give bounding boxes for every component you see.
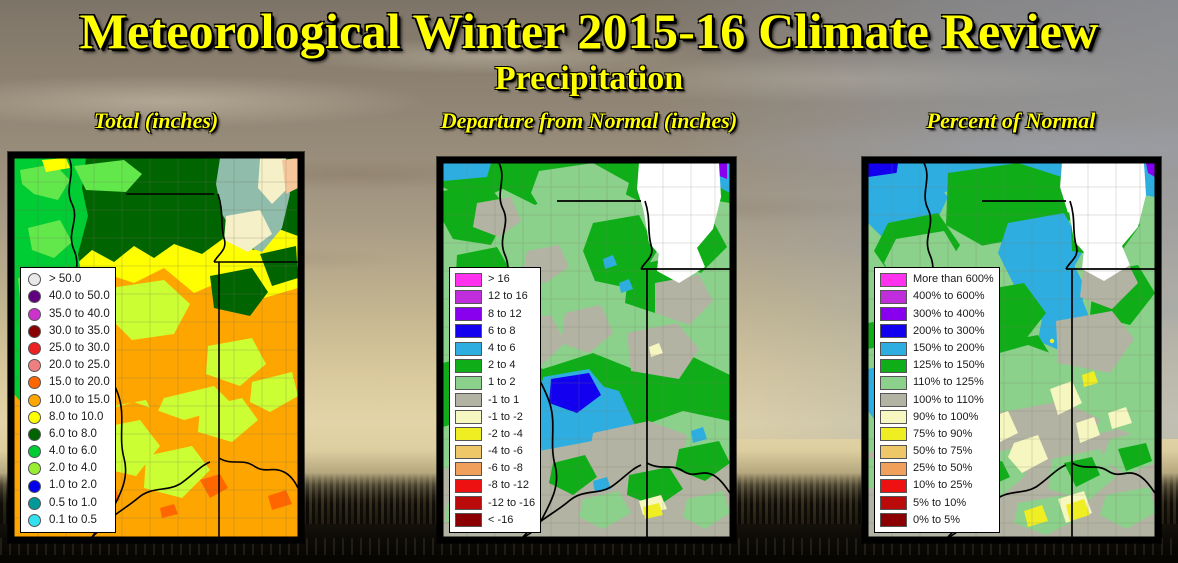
legend-row: -8 to -12 [453, 477, 535, 494]
legend-label: 50% to 75% [913, 443, 972, 460]
legend-label: 90% to 100% [913, 409, 978, 426]
legend-swatch-box-icon [455, 376, 482, 390]
legend-label: 35.0 to 40.0 [49, 306, 110, 323]
legend-swatch-circle-icon [28, 514, 41, 527]
legend-swatch-box-icon [455, 479, 482, 493]
legend-label: -12 to -16 [488, 495, 535, 512]
legend-swatch-circle-icon [28, 308, 41, 321]
legend-row: 4 to 6 [453, 340, 535, 357]
legend-swatch-circle-icon [28, 359, 41, 372]
legend-row: 0.1 to 0.5 [24, 512, 110, 529]
legend-label: 10.0 to 15.0 [49, 392, 110, 409]
legend-label: -2 to -4 [488, 426, 523, 443]
legend-row: 1 to 2 [453, 374, 535, 391]
legend-row: 10.0 to 15.0 [24, 392, 110, 409]
legend-row: 110% to 125% [878, 374, 994, 391]
legend-swatch-box-icon [880, 462, 907, 476]
legend-row: 1.0 to 2.0 [24, 477, 110, 494]
legend-label: 150% to 200% [913, 340, 985, 357]
legend-swatch-circle-icon [28, 411, 41, 424]
legend-row: 5% to 10% [878, 495, 994, 512]
legend-label: > 50.0 [49, 271, 81, 288]
legend-swatch-box-icon [455, 324, 482, 338]
legend-label: 400% to 600% [913, 288, 985, 305]
legend-row: -1 to 1 [453, 392, 535, 409]
legend-label: 15.0 to 20.0 [49, 374, 110, 391]
legend-total: > 50.040.0 to 50.035.0 to 40.030.0 to 35… [20, 267, 116, 533]
legend-swatch-box-icon [455, 359, 482, 373]
legend-swatch-box-icon [880, 342, 907, 356]
legend-row: 6 to 8 [453, 323, 535, 340]
legend-swatch-circle-icon [28, 273, 41, 286]
legend-label: 75% to 90% [913, 426, 972, 443]
legend-swatch-box-icon [455, 513, 482, 527]
legend-swatch-box-icon [455, 307, 482, 321]
legend-label: 25.0 to 30.0 [49, 340, 110, 357]
legend-label: 2 to 4 [488, 357, 516, 374]
legend-label: -4 to -6 [488, 443, 523, 460]
legend-row: 6.0 to 8.0 [24, 426, 110, 443]
legend-row: 10% to 25% [878, 477, 994, 494]
legend-swatch-box-icon [880, 359, 907, 373]
climate-review-poster: Meteorological Winter 2015-16 Climate Re… [0, 0, 1178, 563]
legend-label: -8 to -12 [488, 477, 529, 494]
legend-label: 0.5 to 1.0 [49, 495, 97, 512]
legend-row: 2 to 4 [453, 357, 535, 374]
legend-swatch-box-icon [880, 445, 907, 459]
legend-row: 4.0 to 6.0 [24, 443, 110, 460]
legend-row: > 50.0 [24, 271, 110, 288]
legend-label: 8.0 to 10.0 [49, 409, 103, 426]
legend-swatch-box-icon [455, 342, 482, 356]
legend-row: 8.0 to 10.0 [24, 409, 110, 426]
legend-row: More than 600% [878, 271, 994, 288]
legend-label: 8 to 12 [488, 306, 522, 323]
legend-label: 40.0 to 50.0 [49, 288, 110, 305]
legend-label: 200% to 300% [913, 323, 985, 340]
legend-swatch-circle-icon [28, 376, 41, 389]
legend-label: 6 to 8 [488, 323, 516, 340]
legend-label: 10% to 25% [913, 477, 972, 494]
legend-label: -1 to -2 [488, 409, 523, 426]
legend-row: 0% to 5% [878, 512, 994, 529]
legend-swatch-circle-icon [28, 462, 41, 475]
legend-row: 50% to 75% [878, 443, 994, 460]
legend-swatch-box-icon [455, 410, 482, 424]
legend-row: 200% to 300% [878, 323, 994, 340]
legend-row: 40.0 to 50.0 [24, 288, 110, 305]
legend-swatch-box-icon [880, 410, 907, 424]
legend-swatch-box-icon [880, 376, 907, 390]
legend-row: -12 to -16 [453, 495, 535, 512]
legend-label: 20.0 to 25.0 [49, 357, 110, 374]
legend-swatch-circle-icon [28, 394, 41, 407]
legend-swatch-box-icon [455, 445, 482, 459]
legend-label: 12 to 16 [488, 288, 528, 305]
legend-swatch-circle-icon [28, 428, 41, 441]
legend-label: 125% to 150% [913, 357, 985, 374]
legend-swatch-circle-icon [28, 325, 41, 338]
legend-swatch-box-icon [880, 393, 907, 407]
legend-swatch-box-icon [455, 496, 482, 510]
legend-swatch-circle-icon [28, 497, 41, 510]
map-total-precipitation[interactable]: > 50.040.0 to 50.035.0 to 40.030.0 to 35… [8, 152, 304, 543]
legend-row: -1 to -2 [453, 409, 535, 426]
legend-row: 100% to 110% [878, 392, 994, 409]
legend-swatch-box-icon [880, 513, 907, 527]
legend-swatch-circle-icon [28, 290, 41, 303]
legend-label: More than 600% [913, 271, 994, 288]
legend-swatch-box-icon [880, 290, 907, 304]
legend-swatch-box-icon [880, 324, 907, 338]
legend-row: < -16 [453, 512, 535, 529]
legend-row: 2.0 to 4.0 [24, 460, 110, 477]
legend-label: 2.0 to 4.0 [49, 460, 97, 477]
legend-swatch-box-icon [880, 427, 907, 441]
legend-row: > 16 [453, 271, 535, 288]
legend-label: < -16 [488, 512, 513, 529]
legend-row: 8 to 12 [453, 306, 535, 323]
legend-label: 0.1 to 0.5 [49, 512, 97, 529]
legend-swatch-circle-icon [28, 342, 41, 355]
legend-label: 5% to 10% [913, 495, 966, 512]
legend-row: 300% to 400% [878, 306, 994, 323]
legend-swatch-circle-icon [28, 480, 41, 493]
legend-label: 100% to 110% [913, 392, 984, 409]
legend-row: 20.0 to 25.0 [24, 357, 110, 374]
legend-row: 25.0 to 30.0 [24, 340, 110, 357]
legend-swatch-box-icon [455, 393, 482, 407]
legend-swatch-box-icon [880, 496, 907, 510]
legend-row: -2 to -4 [453, 426, 535, 443]
legend-row: 0.5 to 1.0 [24, 495, 110, 512]
legend-row: 400% to 600% [878, 288, 994, 305]
legend-label: 6.0 to 8.0 [49, 426, 97, 443]
legend-label: 4.0 to 6.0 [49, 443, 97, 460]
legend-row: 12 to 16 [453, 288, 535, 305]
legend-label: 300% to 400% [913, 306, 985, 323]
legend-label: 110% to 125% [913, 374, 984, 391]
legend-row: 150% to 200% [878, 340, 994, 357]
legend-swatch-box-icon [455, 290, 482, 304]
legend-row: 35.0 to 40.0 [24, 306, 110, 323]
map-percent-of-normal[interactable]: More than 600%400% to 600%300% to 400%20… [862, 157, 1161, 543]
legend-row: -4 to -6 [453, 443, 535, 460]
map-departure-from-normal[interactable]: > 1612 to 168 to 126 to 84 to 62 to 41 t… [437, 157, 736, 543]
legend-row: 125% to 150% [878, 357, 994, 374]
legend-row: 15.0 to 20.0 [24, 374, 110, 391]
legend-swatch-box-icon [455, 273, 482, 287]
legend-label: 1.0 to 2.0 [49, 477, 97, 494]
legend-row: 90% to 100% [878, 409, 994, 426]
legend-label: 30.0 to 35.0 [49, 323, 110, 340]
legend-swatch-box-icon [455, 462, 482, 476]
legend-label: 1 to 2 [488, 374, 516, 391]
legend-swatch-box-icon [880, 307, 907, 321]
legend-label: > 16 [488, 271, 510, 288]
legend-label: 25% to 50% [913, 460, 972, 477]
legend-departure: > 1612 to 168 to 126 to 84 to 62 to 41 t… [449, 267, 541, 533]
legend-swatch-box-icon [880, 273, 907, 287]
legend-label: 0% to 5% [913, 512, 960, 529]
legend-label: -6 to -8 [488, 460, 523, 477]
legend-row: -6 to -8 [453, 460, 535, 477]
legend-swatch-circle-icon [28, 445, 41, 458]
legend-label: -1 to 1 [488, 392, 519, 409]
legend-row: 75% to 90% [878, 426, 994, 443]
legend-label: 4 to 6 [488, 340, 516, 357]
legend-swatch-box-icon [455, 427, 482, 441]
legend-percent: More than 600%400% to 600%300% to 400%20… [874, 267, 1000, 533]
legend-swatch-box-icon [880, 479, 907, 493]
legend-row: 25% to 50% [878, 460, 994, 477]
legend-row: 30.0 to 35.0 [24, 323, 110, 340]
